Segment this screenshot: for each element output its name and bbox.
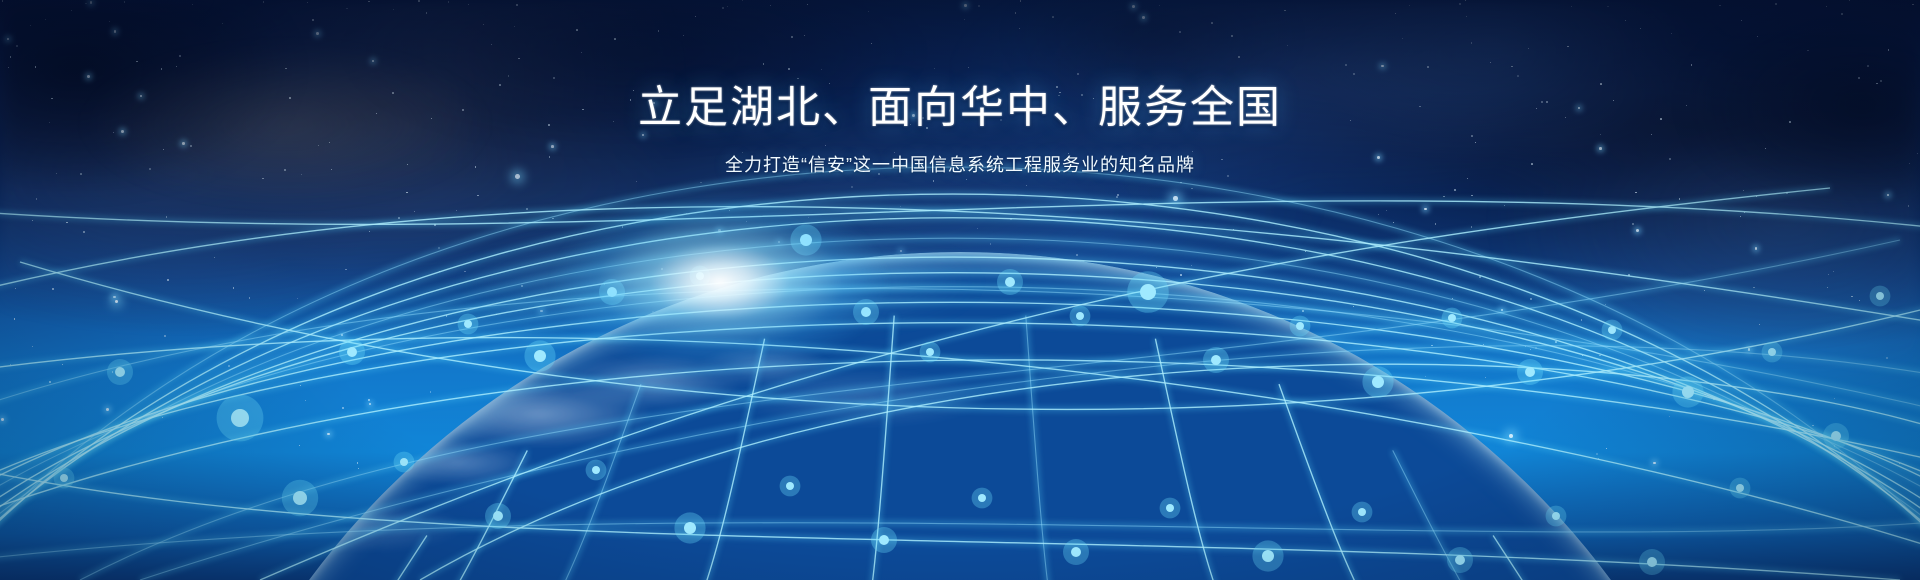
center-light-burst — [500, 162, 940, 402]
banner-headline: 立足湖北、面向华中、服务全国 — [0, 82, 1920, 134]
hero-banner: 立足湖北、面向华中、服务全国 全力打造“信安”这一中国信息系统工程服务业的知名品… — [0, 0, 1920, 580]
banner-copy: 立足湖北、面向华中、服务全国 全力打造“信安”这一中国信息系统工程服务业的知名品… — [0, 82, 1920, 179]
banner-subheadline: 全力打造“信安”这一中国信息系统工程服务业的知名品牌 — [0, 152, 1920, 179]
